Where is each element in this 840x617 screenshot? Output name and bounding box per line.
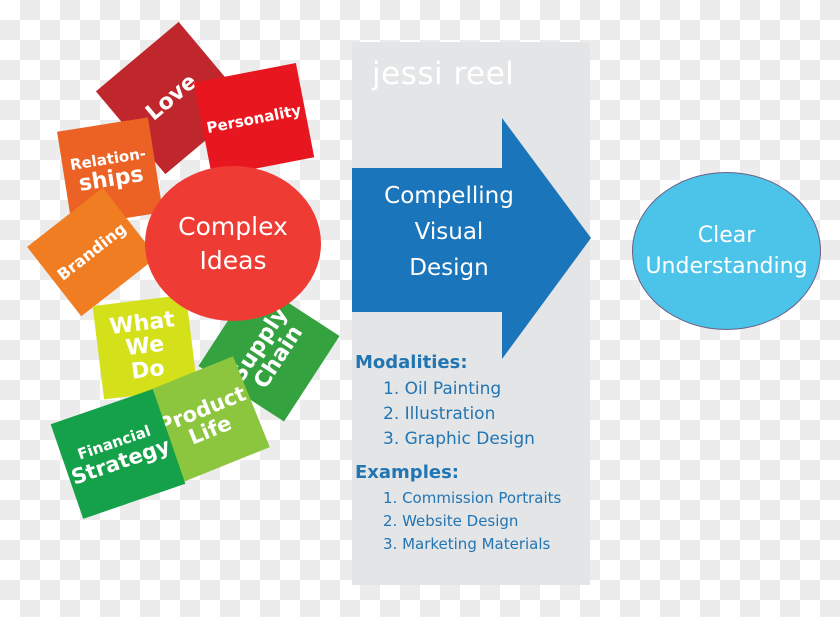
complex-ideas-circle: Complex Ideas	[145, 166, 321, 321]
clear-understanding-circle: Clear Understanding	[632, 172, 821, 330]
clear-understanding-line-2: Understanding	[645, 254, 807, 279]
examples-section: Examples: 1. Commission Portraits 2. Web…	[352, 462, 592, 556]
examples-heading: Examples:	[355, 462, 592, 483]
page-title: jessi reel	[372, 56, 514, 92]
arrow-label-line-3: Design	[358, 250, 540, 286]
modalities-section: Modalities: 1. Oil Painting 2. Illustrat…	[352, 352, 592, 452]
diagram-canvas: jessi reel Compelling Visual Design Moda…	[0, 0, 840, 617]
complex-ideas-line-2: Ideas	[200, 246, 267, 275]
list-item: 3. Graphic Design	[383, 427, 592, 452]
list-item: 1. Oil Painting	[383, 377, 592, 402]
list-item: 3. Marketing Materials	[383, 533, 592, 556]
examples-list: 1. Commission Portraits 2. Website Desig…	[352, 487, 592, 556]
modalities-list: 1. Oil Painting 2. Illustration 3. Graph…	[352, 377, 592, 452]
list-item: 1. Commission Portraits	[383, 487, 592, 510]
arrow-label-line-1: Compelling	[358, 178, 540, 214]
clear-understanding-line-1: Clear	[698, 223, 756, 248]
arrow-label: Compelling Visual Design	[358, 178, 540, 286]
tile-personality: Personality	[194, 63, 314, 177]
list-item: 2. Illustration	[383, 402, 592, 427]
tile-personality-label: Personality	[205, 103, 302, 137]
tile-love-label: Love	[142, 70, 202, 125]
tile-what-we-do-label-3: Do	[130, 357, 166, 384]
tile-branding-label: Branding	[54, 220, 129, 284]
modalities-heading: Modalities:	[355, 352, 592, 373]
arrow-label-line-2: Visual	[358, 214, 540, 250]
compelling-visual-design-arrow: Compelling Visual Design	[352, 118, 591, 360]
list-item: 2. Website Design	[383, 510, 592, 533]
complex-ideas-line-1: Complex	[178, 212, 288, 241]
